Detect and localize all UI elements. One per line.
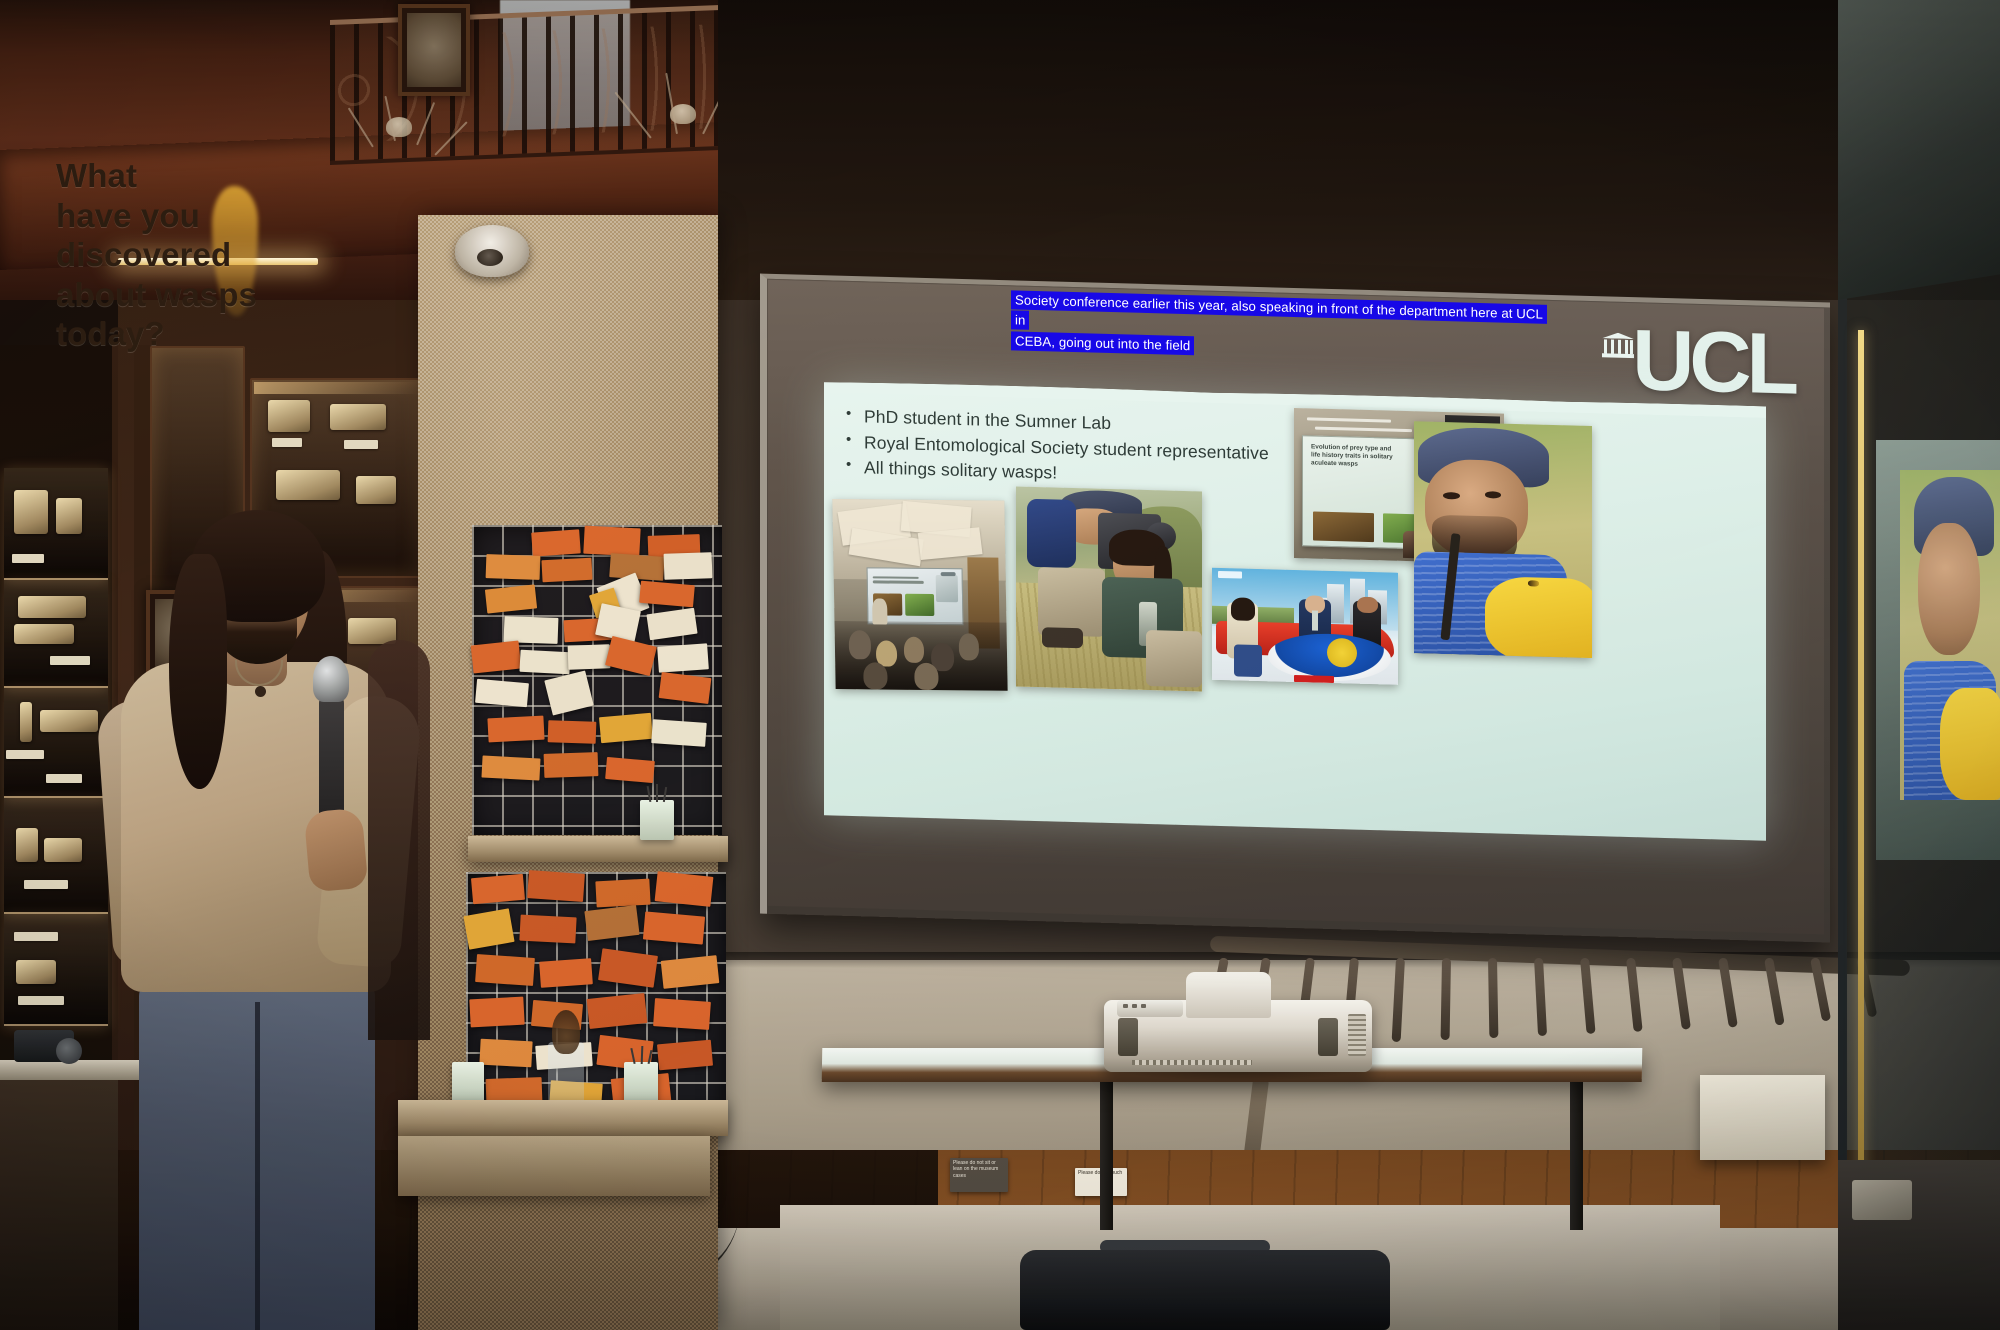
inset-slide-title: Evolution of prey type and life history … [1311,443,1421,471]
flight-case[interactable] [1020,1250,1390,1330]
question-line: about wasps [56,275,286,315]
specimen-label [272,438,302,447]
slide-bullet-list: PhD student in the Sumner Lab Royal Ento… [842,404,1302,493]
sticky-note-board-upper[interactable] [472,525,722,835]
plinth-step [398,1136,710,1196]
case-light-strip [1858,330,1864,1210]
tv-studio-photo [1212,568,1398,685]
lecture-speaker [872,598,888,625]
broadcaster-logo [1218,571,1242,579]
presenter-hand [304,808,369,893]
fieldwork-filming-photo [1016,486,1202,691]
ucl-wordmark: UCL [1632,325,1794,400]
board-ledge [468,836,728,862]
specimen [330,404,386,430]
camera-operator-jacket [1027,499,1075,568]
antler-icon [434,121,467,155]
case-shelf [4,688,108,798]
lower-ledge [398,1100,728,1136]
slide: PhD student in the Sumner Lab Royal Ento… [824,385,1766,840]
microphone-icon [313,656,349,702]
case-specimen [1852,1180,1912,1220]
pen-pot[interactable] [452,1062,484,1104]
specimen [268,400,310,432]
antler-icon [416,102,435,145]
question-line: have you [56,196,286,236]
case-shelf [4,914,108,1026]
lecture-hall-photo [832,499,1007,691]
portico-icon [1602,332,1634,359]
dried-flowers [552,1010,580,1054]
question-line: What [56,156,286,196]
case-top-frame [1838,0,2000,300]
floor-case [1700,1075,1825,1160]
studio-presenter-female-head [1357,596,1377,613]
specimen [276,470,340,500]
projector-vent-grille [1348,1014,1366,1056]
hair-left [169,554,227,789]
pen-pot[interactable] [624,1062,658,1104]
cabinet-light [254,382,419,394]
caption-line: CEBA, going out into the field [1011,331,1194,355]
researcher-trousers [1146,630,1202,688]
case-shelf [4,798,108,914]
antler-icon [665,73,678,134]
pen-pot[interactable] [640,800,674,840]
case-shelf [4,580,108,688]
projector-remote[interactable] [1117,1000,1183,1017]
framed-specimen [398,4,470,96]
background-person [368,640,430,1040]
case-shelf [4,468,108,580]
antler-icon [615,92,652,139]
reflected-slide-portrait [1900,470,2000,800]
equipment-knob [56,1038,82,1064]
necktie [1312,611,1318,631]
inset-photo [1313,512,1374,542]
shirt-button [255,686,266,697]
table-leg [1570,1078,1583,1230]
wall-question-text: What have you discovered about wasps tod… [56,156,286,354]
specimen-label [344,440,378,449]
camera-lens-icon [477,249,503,266]
specimen [356,476,396,504]
screen-surface: UCL Society conference earlier this year… [768,280,1824,935]
wasp-specimen [1528,581,1539,587]
plinth-sign-dark: Please do not sit or lean on the museum … [950,1158,1008,1192]
projection-screen: UCL Society conference earlier this year… [760,274,1830,943]
antler-icon [348,107,374,147]
live-caption: Society conference earlier this year, al… [1011,290,1551,366]
studio-ticker [1294,675,1334,683]
boot [1042,627,1083,648]
sticky-note-board-lower[interactable] [466,872,726,1132]
studio-guest-hair [1231,597,1255,620]
question-line: discovered [56,235,286,275]
presenter-legs [139,980,375,1330]
wasp-handling-portrait [1414,421,1592,658]
table-leg [1100,1080,1113,1230]
studio-guest-jeans [1234,645,1262,677]
screenshot-root: Please do not sit or lean on the museum … [0,0,2000,1330]
projector-intake [1132,1060,1252,1065]
yellow-glove [1485,576,1592,658]
projector-mirror-head [1186,972,1271,1018]
antler-specimen-group [330,95,490,185]
question-line: today? [56,314,286,354]
ceiling-dark-zone [718,0,2000,300]
